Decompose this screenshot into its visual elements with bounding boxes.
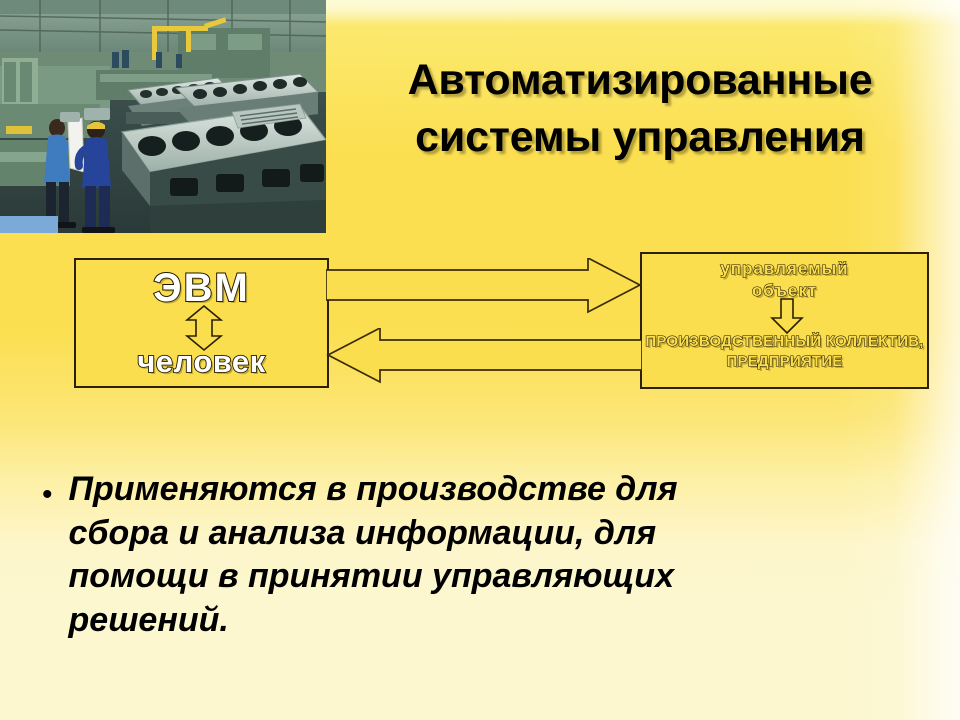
list-item: • Применяются в производстве для сбора и…: [42, 468, 702, 642]
slide-title-line1: Автоматизированные: [334, 52, 946, 109]
bullet-text: Применяются в производстве для сбора и а…: [69, 468, 702, 642]
slide-title-line2: системы управления: [334, 109, 946, 166]
factory-floor-photo: [0, 0, 326, 233]
slide-canvas: Автоматизированные системы управления ЭВ…: [0, 0, 960, 720]
slide-title: Автоматизированные системы управления: [334, 52, 946, 166]
bullet-marker-icon: •: [42, 468, 53, 510]
body-bullet-list: • Применяются в производстве для сбора и…: [42, 468, 702, 642]
